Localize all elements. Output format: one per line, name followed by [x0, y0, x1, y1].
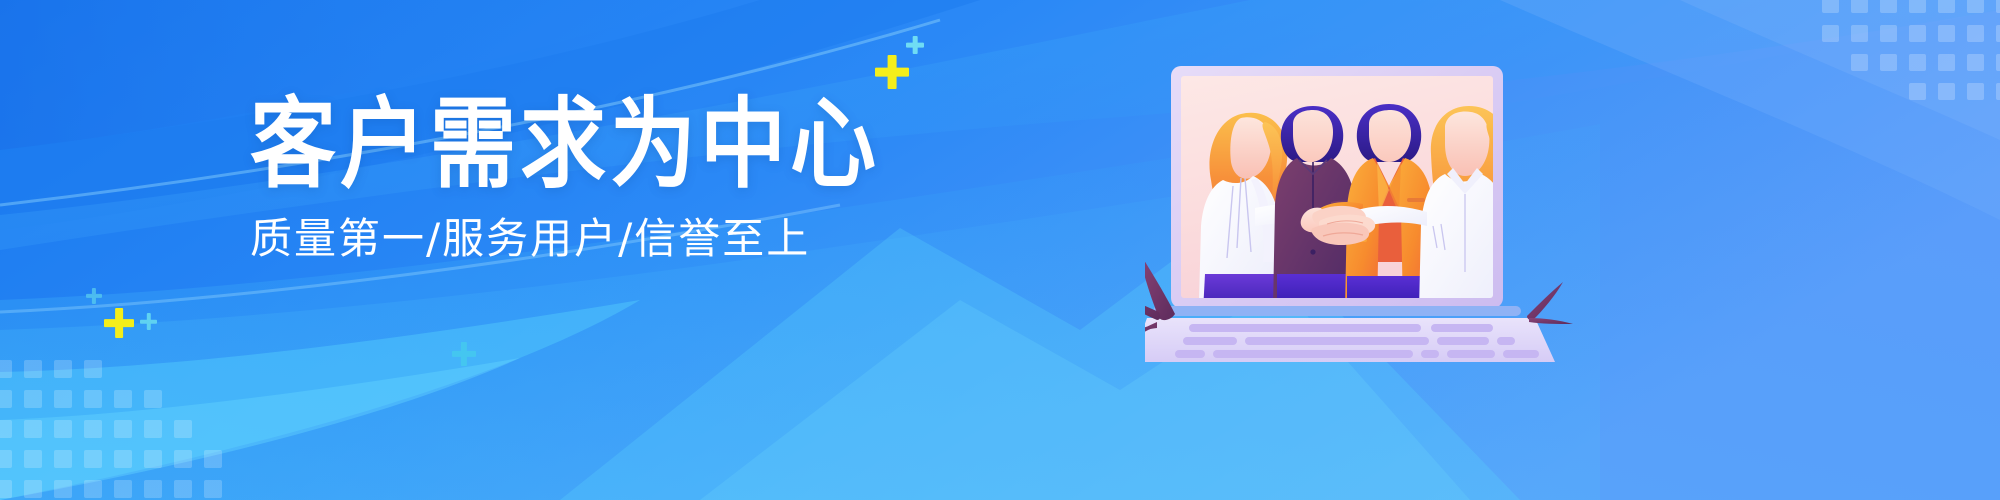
cross-yellow-bottom-icon	[104, 308, 134, 338]
cross-cyan-small-top-icon	[906, 36, 924, 54]
promo-banner: 客户需求为中心 质量第一/服务用户/信誉至上	[0, 0, 2000, 500]
cross-yellow-large-icon	[875, 55, 909, 89]
banner-copy: 客户需求为中心 质量第一/服务用户/信誉至上	[250, 96, 870, 260]
laptop-team-illustration	[1145, 62, 1575, 362]
leaf-cluster-right	[1527, 282, 1573, 324]
page-title: 客户需求为中心	[250, 96, 870, 194]
cross-cyan-bottom-mid-icon	[452, 342, 476, 366]
laptop-base	[1145, 306, 1555, 362]
cross-cyan-upper-left-icon	[86, 288, 102, 304]
cross-cyan-bottom-left-icon	[140, 313, 157, 330]
banner-subtitle: 质量第一/服务用户/信誉至上	[250, 218, 870, 260]
